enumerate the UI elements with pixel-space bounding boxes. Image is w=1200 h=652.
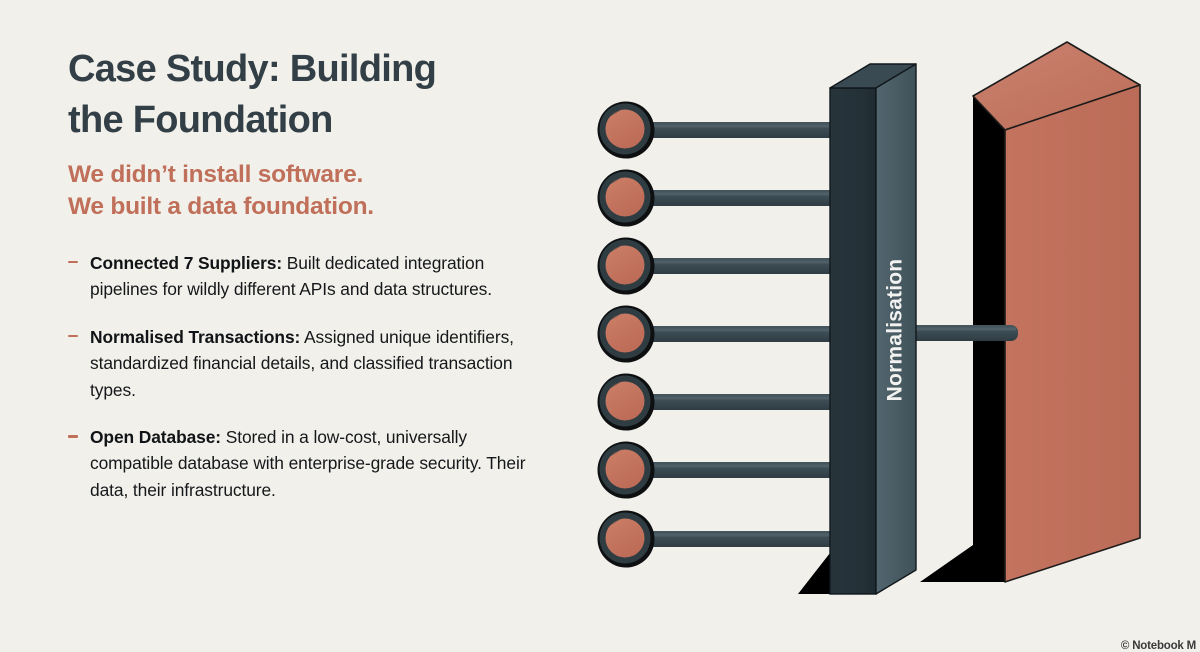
supplier-node: [598, 102, 655, 159]
supplier-node: [598, 170, 655, 227]
supplier-rods: [620, 122, 855, 547]
supplier-rod: [620, 462, 855, 478]
slab-front-face: [830, 88, 876, 594]
slab-label: Normalisation: [884, 259, 907, 402]
supplier-node: [598, 238, 655, 295]
bullet-lead: Normalised Transactions:: [90, 327, 300, 347]
title-line-2: the Foundation: [68, 95, 538, 146]
text-column: Case Study: Building the Foundation We d…: [68, 44, 538, 503]
bullet-lead: Connected 7 Suppliers:: [90, 253, 282, 273]
supplier-rod: [620, 190, 855, 206]
slide-canvas: Case Study: Building the Foundation We d…: [0, 0, 1200, 648]
dash-bullet-icon: [68, 261, 78, 264]
page-title: Case Study: Building the Foundation: [68, 44, 538, 145]
list-item: Open Database: Stored in a low-cost, uni…: [68, 424, 538, 503]
diagram-svg: Normalisation: [580, 0, 1200, 648]
supplier-rod: [620, 394, 855, 410]
supplier-node: [598, 442, 655, 499]
dash-bullet-icon: [68, 335, 78, 338]
title-line-1: Case Study: Building: [68, 44, 538, 95]
list-item: Normalised Transactions: Assigned unique…: [68, 324, 538, 403]
bullet-list: Connected 7 Suppliers: Built dedicated i…: [68, 250, 538, 504]
supplier-node: [598, 306, 655, 363]
supplier-node: [598, 374, 655, 431]
supplier-nodes: [598, 102, 655, 568]
supplier-rod: [620, 326, 855, 342]
supplier-rod: [620, 122, 855, 138]
supplier-rod: [620, 531, 855, 547]
list-item: Connected 7 Suppliers: Built dedicated i…: [68, 250, 538, 303]
page-subtitle: We didn’t install software. We built a d…: [68, 159, 538, 224]
bullet-lead: Open Database:: [90, 427, 221, 447]
supplier-rod: [620, 258, 855, 274]
subtitle-line-1: We didn’t install software.: [68, 159, 538, 191]
watermark: © Notebook M: [1121, 640, 1196, 652]
block-front-face: [1005, 85, 1140, 582]
normalisation-diagram: Normalisation: [580, 0, 1200, 648]
open-database-block: [920, 42, 1140, 582]
supplier-node: [598, 511, 655, 568]
dash-bullet-icon: [68, 435, 78, 438]
subtitle-line-2: We built a data foundation.: [68, 191, 538, 223]
